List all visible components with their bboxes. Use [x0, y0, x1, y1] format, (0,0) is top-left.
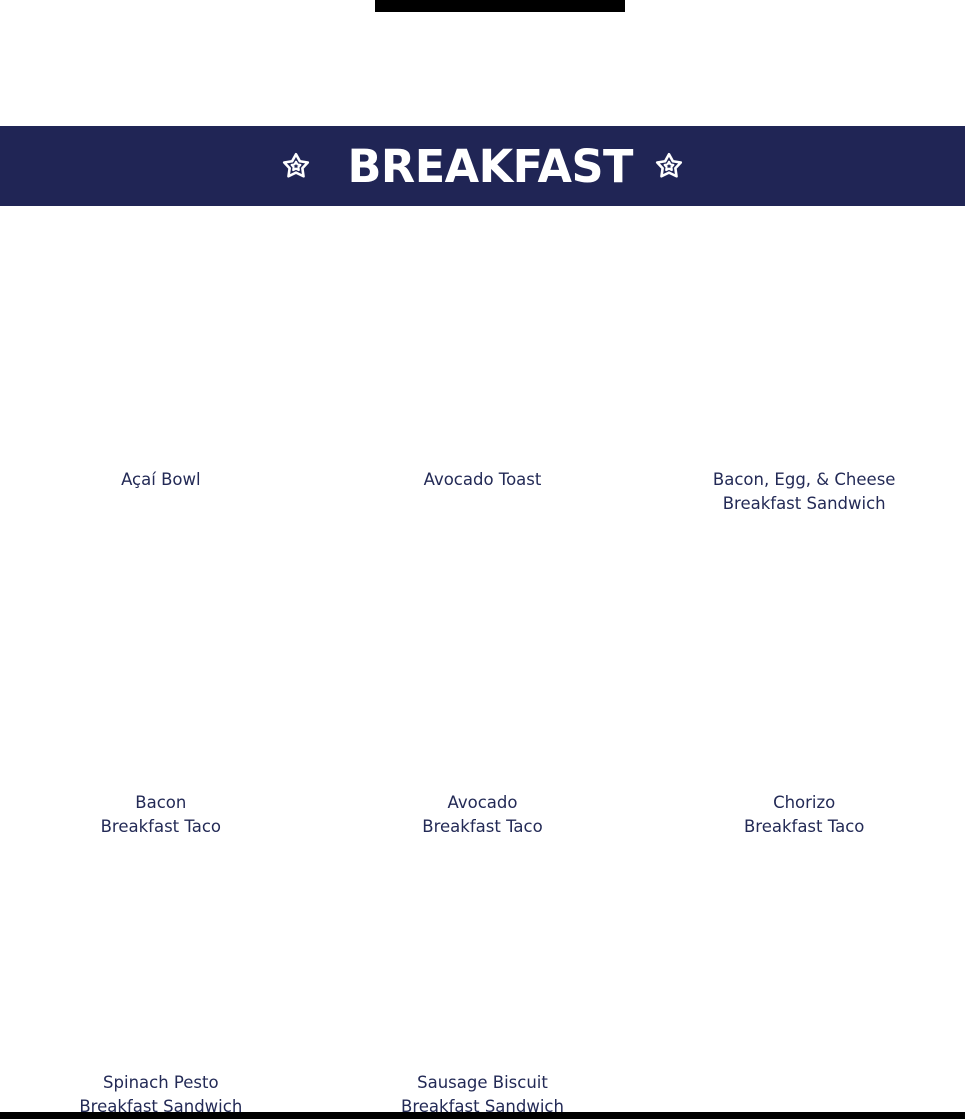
- menu-item[interactable]: Bacon Breakfast Taco: [0, 533, 322, 839]
- menu-item[interactable]: Chorizo Breakfast Taco: [643, 533, 965, 839]
- menu-row: Açaí Bowl Avocado Toast Bacon, Egg, & Ch…: [0, 206, 965, 533]
- breakfast-section-banner: Breakfast: [0, 126, 965, 206]
- top-black-bar: [375, 0, 625, 12]
- bacon-egg-cheese-breakfast-sandwich-image[interactable]: [643, 206, 965, 454]
- menu-item-label: Chorizo Breakfast Taco: [656, 791, 952, 839]
- menu-item-label: Açaí Bowl: [13, 468, 309, 492]
- bacon-breakfast-taco-image[interactable]: [0, 533, 322, 791]
- menu-row: Bacon Breakfast Taco Avocado Breakfast T…: [0, 533, 965, 839]
- avocado-breakfast-taco-image[interactable]: [322, 533, 644, 791]
- star-outline-icon: [281, 151, 311, 181]
- bottom-black-bar: [0, 1112, 965, 1119]
- acai-bowl-image[interactable]: [0, 206, 322, 454]
- menu-item-label: Bacon Breakfast Taco: [13, 791, 309, 839]
- menu-item-label: Avocado Toast: [335, 468, 631, 492]
- menu-item[interactable]: Spinach Pesto Breakfast Sandwich: [0, 839, 322, 1119]
- menu-row: Spinach Pesto Breakfast Sandwich Sausage…: [0, 839, 965, 1119]
- star-outline-icon: [654, 151, 684, 181]
- menu-item-label: Bacon, Egg, & Cheese Breakfast Sandwich: [656, 468, 952, 516]
- menu-item[interactable]: Bacon, Egg, & Cheese Breakfast Sandwich: [643, 206, 965, 533]
- menu-grid-empty-cell: [643, 839, 965, 1119]
- banner-content: Breakfast: [281, 144, 684, 189]
- menu-item[interactable]: Açaí Bowl: [0, 206, 322, 533]
- avocado-toast-image[interactable]: [322, 206, 644, 454]
- menu-item-label: Avocado Breakfast Taco: [335, 791, 631, 839]
- spinach-pesto-breakfast-sandwich-image[interactable]: [0, 839, 322, 1071]
- menu-item[interactable]: Avocado Breakfast Taco: [322, 533, 644, 839]
- page-title: Breakfast: [347, 144, 633, 189]
- chorizo-breakfast-taco-image[interactable]: [643, 533, 965, 791]
- breakfast-menu-grid: Açaí Bowl Avocado Toast Bacon, Egg, & Ch…: [0, 206, 965, 1119]
- sausage-biscuit-breakfast-sandwich-image[interactable]: [322, 839, 644, 1071]
- menu-item[interactable]: Avocado Toast: [322, 206, 644, 533]
- menu-item[interactable]: Sausage Biscuit Breakfast Sandwich: [322, 839, 644, 1119]
